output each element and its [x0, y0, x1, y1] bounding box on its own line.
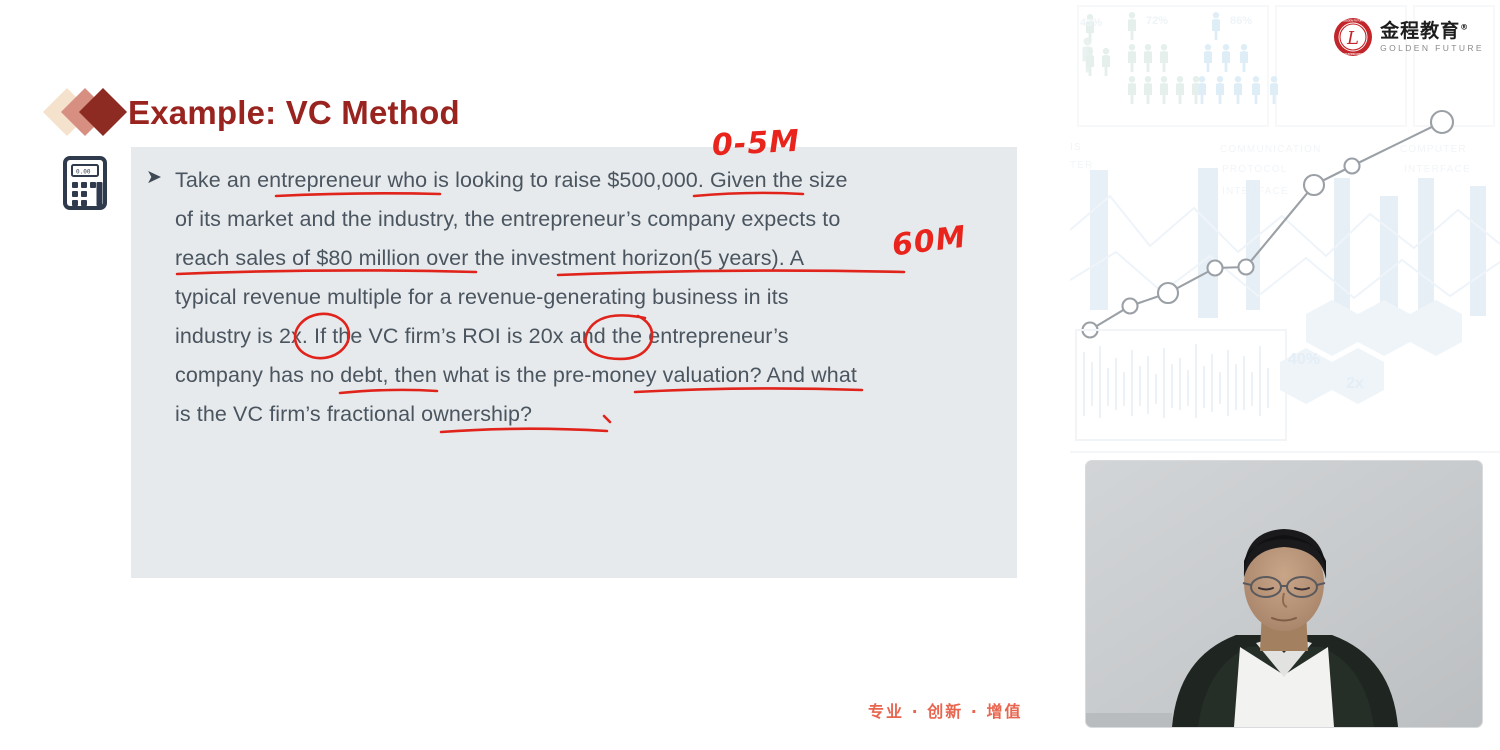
body-line: Take an entrepreneur who is looking to r…: [175, 161, 1003, 200]
chart-marker: [1158, 283, 1178, 303]
diamond-bullet-icon: [50, 87, 128, 137]
body-line: of its market and the industry, the entr…: [175, 200, 1003, 239]
watermark-label: COMMUNICATION: [1220, 144, 1322, 155]
hex-label: 40%: [1288, 351, 1320, 368]
page-title: Example: VC Method: [128, 96, 460, 129]
handwritten-note-0-5m: 0-5M: [711, 124, 801, 164]
svg-text:0.00: 0.00: [76, 169, 91, 176]
chart-marker: [1123, 299, 1138, 314]
instructor-video-feed[interactable]: [1086, 461, 1482, 727]
registered-mark: ®: [1460, 22, 1469, 31]
body-line: typical revenue multiple for a revenue-g…: [175, 278, 1003, 317]
svg-text:GOLDEN FUTURE: GOLDEN FUTURE: [1342, 19, 1365, 23]
body-text: Take an entrepreneur who is looking to r…: [175, 161, 1003, 434]
pictogram-percent: 86%: [1230, 15, 1252, 27]
watermark-label: PROTOCOL: [1222, 164, 1288, 175]
body-line: company has no debt, then what is the pr…: [175, 356, 1003, 395]
brand-name-cn: 金程教育®: [1380, 22, 1484, 41]
watermark-label: IS: [1070, 142, 1082, 153]
brand-name-en: GOLDEN FUTURE: [1380, 44, 1484, 53]
brand-logo: L GOLDEN FUTURE EDUCATION GROUP 金程教育® GO…: [1333, 17, 1484, 57]
watermark-label: COMPUTER: [1400, 144, 1467, 155]
pictogram-percent: 72%: [1146, 15, 1168, 27]
candlestick-chart: [1076, 330, 1286, 440]
watermark-label: INTERFACE: [1404, 164, 1471, 175]
background-infographic: 43% 72% 86% IS TER COMMUNICATION PROTOCO…: [1070, 0, 1500, 460]
slide-area: Example: VC Method 0.00: [0, 0, 1070, 750]
bullet-item: ➤ Take an entrepreneur who is looking to…: [143, 161, 1003, 434]
chart-marker: [1208, 261, 1223, 276]
content-panel: ➤ Take an entrepreneur who is looking to…: [131, 147, 1017, 578]
svg-text:L: L: [1346, 28, 1359, 49]
bullet-arrow-icon: ➤: [143, 161, 175, 434]
right-panel: 43% 72% 86% IS TER COMMUNICATION PROTOCO…: [1070, 0, 1500, 750]
body-line: is the VC firm’s fractional ownership?: [175, 395, 1003, 434]
chart-marker: [1304, 175, 1324, 195]
hex-label: 2x: [1346, 375, 1364, 392]
watermark-label: TER: [1070, 160, 1094, 171]
chart-marker: [1345, 159, 1360, 174]
svg-text:EDUCATION GROUP: EDUCATION GROUP: [1340, 52, 1366, 56]
body-line: reach sales of $80 million over the inve…: [175, 239, 1003, 278]
presentation-screen: Example: VC Method 0.00: [0, 0, 1500, 750]
calculator-icon: 0.00: [63, 156, 107, 210]
chart-marker: [1239, 260, 1254, 275]
chart-marker: [1431, 111, 1453, 133]
body-line: industry is 2x. If the VC firm’s ROI is …: [175, 317, 1003, 356]
slide-title-row: Example: VC Method: [50, 84, 460, 140]
footer-slogan: 专业 · 创新 · 增值: [868, 698, 1022, 722]
pictogram-percent: 43%: [1080, 17, 1102, 29]
seal-logo-icon: L GOLDEN FUTURE EDUCATION GROUP: [1333, 17, 1373, 57]
